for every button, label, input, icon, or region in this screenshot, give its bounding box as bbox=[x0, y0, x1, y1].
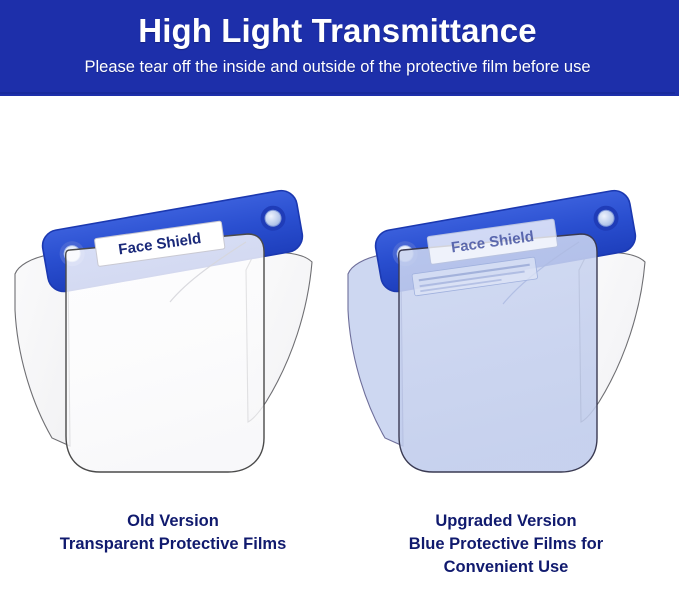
caption-line: Convenient Use bbox=[341, 556, 671, 579]
face-shield-illustration-upgraded: Face Shield bbox=[341, 170, 671, 500]
caption-line: Blue Protective Films for bbox=[341, 533, 671, 556]
shield-main-panel bbox=[66, 234, 264, 472]
caption-upgraded-version: Upgraded Version Blue Protective Films f… bbox=[341, 510, 671, 579]
header-banner-inner: High Light Transmittance Please tear off… bbox=[0, 0, 675, 94]
product-comparison-image: High Light Transmittance Please tear off… bbox=[0, 0, 679, 596]
face-shield-illustration-old: Face Shield bbox=[8, 170, 338, 500]
header-banner: High Light Transmittance Please tear off… bbox=[0, 0, 679, 96]
caption-old-version: Old Version Transparent Protective Films bbox=[8, 510, 338, 556]
banner-title: High Light Transmittance bbox=[0, 11, 675, 51]
product-panel-upgraded-version: Face Shield Upgraded Version Blue Protec… bbox=[341, 110, 671, 596]
face-shield-svg-upgraded: Face Shield bbox=[341, 170, 671, 500]
caption-line: Upgraded Version bbox=[341, 510, 671, 533]
banner-subtitle: Please tear off the inside and outside o… bbox=[0, 57, 675, 78]
face-shield-svg-old: Face Shield bbox=[8, 170, 338, 500]
product-panel-old-version: Face Shield Old Version Transparent Prot… bbox=[8, 110, 338, 596]
caption-line: Old Version bbox=[8, 510, 338, 533]
caption-line: Transparent Protective Films bbox=[8, 533, 338, 556]
